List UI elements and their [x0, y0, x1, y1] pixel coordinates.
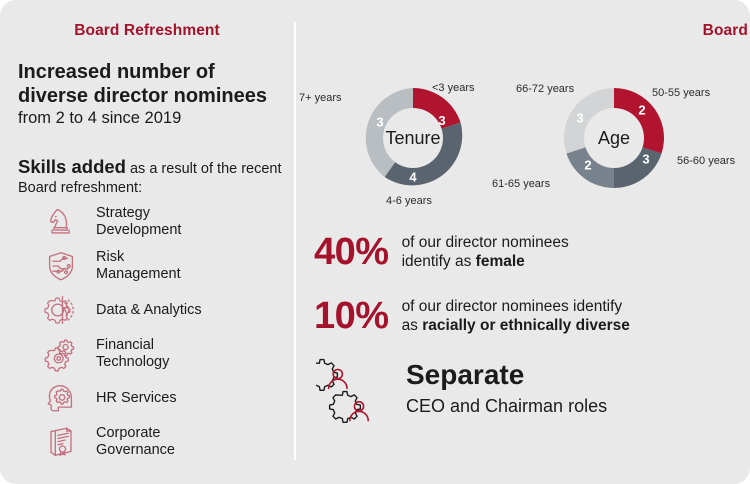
age-callout-61-65: 61-65 years [492, 178, 550, 190]
stat-female-line2-prefix: identify as [402, 253, 476, 270]
tenure-value-4to6: 4 [409, 169, 417, 184]
stat-female-percent: 40% [314, 232, 389, 272]
board-composition-panel: Board Composition Highlights 3 4 3 Tenur… [294, 0, 750, 484]
two-gears-icon [42, 335, 80, 373]
stat-female: 40% of our director nominees identify as… [314, 232, 569, 272]
chess-knight-icon [42, 203, 80, 241]
head-gear-icon [42, 379, 80, 417]
skills-list: Strategy Development Risk [42, 200, 292, 464]
skill-label-strategy-development: Strategy Development [96, 205, 181, 239]
tenure-callout-lt3: <3 years [432, 82, 475, 94]
skill-label-risk-management: Risk Management [96, 249, 181, 283]
skill-label-hr-services: HR Services [96, 390, 177, 407]
separate-roles-block: Separate CEO and Chairman roles [316, 357, 736, 429]
stat-diverse: 10% of our director nominees identify as… [314, 296, 630, 336]
age-value-66-72: 3 [576, 110, 583, 125]
skill-item-data-analytics: Data & Analytics [42, 288, 292, 332]
separate-title: Separate [406, 358, 607, 391]
tenure-donut-hole [383, 108, 443, 168]
stat-female-text: of our director nominees identify as fem… [402, 233, 569, 271]
skill-item-strategy-development: Strategy Development [42, 200, 292, 244]
stat-female-line2-bold: female [476, 253, 525, 270]
skill-label-financial-technology: Financial Technology [96, 337, 169, 371]
age-value-50-55: 2 [638, 102, 645, 117]
tenure-value-lt3: 3 [438, 113, 445, 128]
stat-diverse-percent: 10% [314, 296, 389, 336]
stat-diverse-text: of our director nominees identify as rac… [402, 297, 630, 335]
age-value-56-60: 3 [642, 151, 649, 166]
tenure-callout-7plus: 7+ years [299, 92, 342, 104]
age-donut-hole [584, 108, 644, 168]
board-composition-title: Board Composition Highlights [588, 22, 750, 40]
skill-item-hr-services: HR Services [42, 376, 292, 420]
age-callout-50-55: 50-55 years [652, 87, 710, 99]
person-gear-icon-top [316, 360, 347, 391]
board-refreshment-title: Board Refreshment [0, 22, 294, 40]
skill-item-financial-technology: Financial Technology [42, 332, 292, 376]
two-person-gears-icon [316, 357, 398, 429]
tenure-donut-chart: 3 4 3 Tenure [353, 78, 473, 198]
age-value-61-65: 2 [584, 157, 591, 172]
scroll-seal-icon [42, 423, 80, 461]
tenure-value-7plus: 3 [376, 114, 383, 129]
skill-label-corporate-governance: Corporate Governance [96, 425, 175, 459]
subheadline-text: from 2 to 4 since 2019 [18, 109, 280, 128]
age-callout-66-72: 66-72 years [516, 83, 574, 95]
gear-gauge-icon [42, 291, 80, 329]
separate-subtitle: CEO and Chairman roles [406, 394, 607, 418]
tenure-donut-svg: 3 4 3 [353, 78, 473, 198]
skills-added-strong: Skills added [18, 156, 126, 177]
headline-text: Increased number of diverse director nom… [18, 60, 280, 108]
skill-label-data-analytics: Data & Analytics [96, 302, 202, 319]
person-gear-icon-bottom [330, 392, 369, 423]
tenure-callout-4to6: 4-6 years [386, 195, 432, 207]
board-refreshment-panel: Board Refreshment Increased number of di… [0, 0, 294, 484]
stat-diverse-line2-prefix: as [402, 317, 423, 334]
age-callout-56-60: 56-60 years [677, 155, 735, 167]
shield-circuit-icon [42, 247, 80, 285]
skill-item-corporate-governance: Corporate Governance [42, 420, 292, 464]
infographic-root: Board Refreshment Increased number of di… [0, 0, 750, 484]
skills-added-lead: Skills added as a result of the recent B… [18, 157, 286, 198]
stat-female-line1: of our director nominees [402, 234, 569, 251]
skill-item-risk-management: Risk Management [42, 244, 292, 288]
separate-roles-text: Separate CEO and Chairman roles [406, 358, 607, 418]
stat-diverse-line1: of our director nominees identify [402, 298, 623, 315]
stat-diverse-line2-bold: racially or ethnically diverse [422, 317, 630, 334]
